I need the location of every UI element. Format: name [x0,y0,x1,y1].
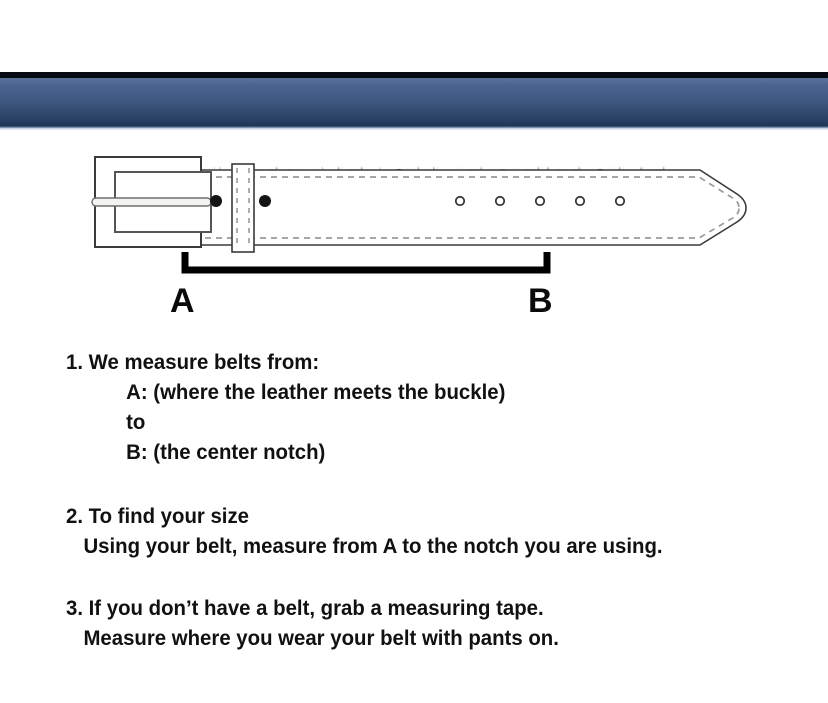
step-3-line-2: Measure where you wear your belt with pa… [66,624,803,654]
step-1-line-4: B: (the center notch) [66,438,803,468]
instruction-step-1: 1. We measure belts from: A: (where the … [66,348,826,468]
instruction-step-3: 3. If you don’t have a belt, grab a meas… [66,594,826,654]
step-1-line-1: 1. We measure belts from: [66,348,803,378]
buckle-prong [92,198,211,206]
belt-hole-filled [210,195,222,207]
instruction-step-2: 2. To find your size Using your belt, me… [66,502,826,562]
belt-punch-hole [456,197,464,205]
step-1-line-3: to [66,408,803,438]
banner-underline [0,128,828,130]
dimension-label-a: A [170,284,195,318]
belt-measurement-diagram [0,140,828,330]
dimension-label-b: B [528,284,553,318]
belt-keeper-loop [232,164,254,252]
step-2-line-1: 2. To find your size [66,502,803,532]
step-3-line-1: 3. If you don’t have a belt, grab a meas… [66,594,803,624]
belt-hole-filled [259,195,271,207]
step-1-line-2: A: (where the leather meets the buckle) [66,378,803,408]
belt-illustration-svg [0,140,828,330]
step-2-line-2: Using your belt, measure from A to the n… [66,532,803,562]
instructions-list: 1. We measure belts from: A: (where the … [66,348,826,680]
belt-punch-hole [536,197,544,205]
measurement-bracket [185,252,547,270]
header-banner: HOW TO MEASURE BELT SIZE [0,78,828,128]
belt-punch-hole [616,197,624,205]
belt-punch-hole [496,197,504,205]
belt-punch-hole [576,197,584,205]
